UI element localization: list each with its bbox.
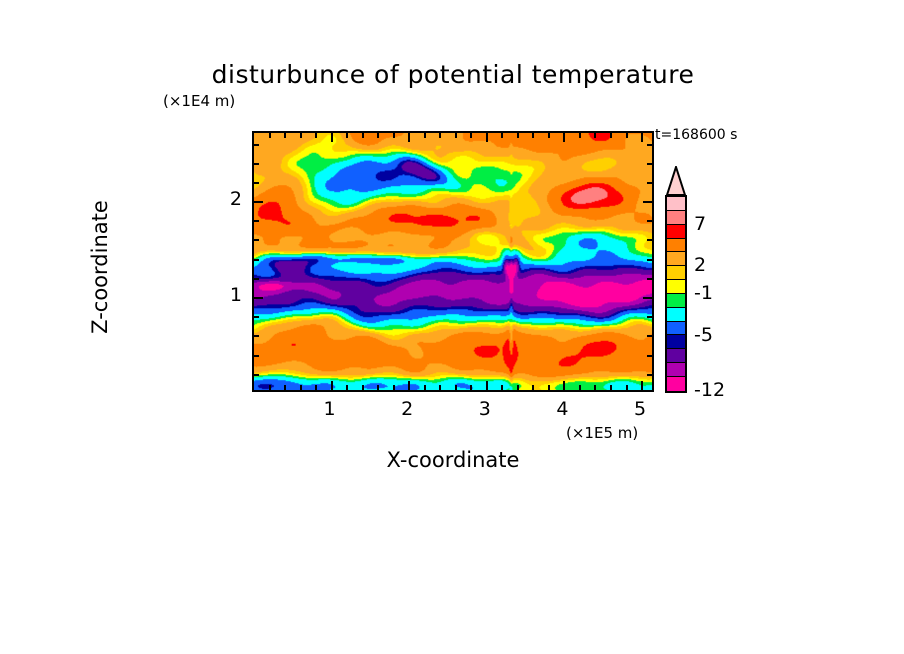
page-title: disturbunce of potential temperature bbox=[170, 60, 736, 89]
y-tick-left bbox=[254, 201, 263, 203]
colorbar-label: 2 bbox=[694, 254, 706, 276]
x-tick-top bbox=[532, 133, 534, 138]
x-tick-top bbox=[517, 133, 519, 138]
colorbar-label: 7 bbox=[694, 213, 706, 235]
colorbar-band bbox=[667, 266, 685, 280]
x-tick-bottom bbox=[470, 385, 472, 390]
x-tick-bottom bbox=[284, 385, 286, 390]
y-tick-right bbox=[647, 374, 652, 376]
x-tick-bottom bbox=[377, 385, 379, 390]
y-tick-right bbox=[647, 220, 652, 222]
y-tick-left bbox=[254, 163, 259, 165]
y-tick-right bbox=[643, 297, 652, 299]
colorbar bbox=[665, 195, 687, 393]
y-tick-right bbox=[647, 355, 652, 357]
x-tick-bottom bbox=[393, 385, 395, 390]
x-tick-bottom bbox=[610, 385, 612, 390]
x-axis-unit-label: (×1E5 m) bbox=[566, 424, 638, 442]
x-tick-bottom bbox=[331, 381, 333, 390]
contour-plot-area bbox=[252, 131, 654, 392]
x-tick-top bbox=[377, 133, 379, 138]
x-tick-bottom bbox=[346, 385, 348, 390]
x-tick-top bbox=[486, 133, 488, 142]
x-tick-bottom bbox=[563, 381, 565, 390]
x-tick-top bbox=[579, 133, 581, 138]
y-tick-right bbox=[647, 163, 652, 165]
x-tick-top bbox=[439, 133, 441, 138]
y-tick-label: 1 bbox=[214, 284, 242, 306]
x-tick-top bbox=[594, 133, 596, 138]
y-tick-left bbox=[254, 239, 259, 241]
x-tick-top bbox=[610, 133, 612, 138]
y-tick-right bbox=[647, 278, 652, 280]
y-tick-left bbox=[254, 297, 263, 299]
colorbar-band bbox=[667, 377, 685, 391]
x-tick-label: 2 bbox=[392, 398, 422, 420]
x-axis-title: X-coordinate bbox=[252, 448, 654, 472]
y-tick-right bbox=[647, 259, 652, 261]
x-tick-top bbox=[424, 133, 426, 138]
y-axis-unit-label: (×1E4 m) bbox=[163, 92, 235, 110]
x-tick-label: 1 bbox=[315, 398, 345, 420]
colorbar-band bbox=[667, 197, 685, 211]
x-tick-bottom bbox=[532, 385, 534, 390]
x-tick-bottom bbox=[548, 385, 550, 390]
colorbar-band bbox=[667, 308, 685, 322]
colorbar-label: -1 bbox=[694, 282, 713, 304]
colorbar-band bbox=[667, 225, 685, 239]
x-tick-bottom bbox=[501, 385, 503, 390]
x-tick-bottom bbox=[641, 381, 643, 390]
x-tick-top bbox=[455, 133, 457, 138]
y-tick-right bbox=[647, 239, 652, 241]
x-tick-top bbox=[393, 133, 395, 138]
x-tick-label: 5 bbox=[625, 398, 655, 420]
x-tick-top bbox=[331, 133, 333, 142]
y-tick-right bbox=[643, 201, 652, 203]
y-tick-label: 2 bbox=[214, 188, 242, 210]
colorbar-band bbox=[667, 252, 685, 266]
y-tick-left bbox=[254, 259, 259, 261]
colorbar-band bbox=[667, 322, 685, 336]
x-tick-top bbox=[501, 133, 503, 138]
x-tick-top bbox=[408, 133, 410, 142]
figure-container: disturbunce of potential temperature (×1… bbox=[0, 0, 904, 654]
y-tick-right bbox=[647, 316, 652, 318]
y-tick-right bbox=[647, 335, 652, 337]
x-tick-bottom bbox=[439, 385, 441, 390]
x-tick-bottom bbox=[408, 381, 410, 390]
x-tick-top bbox=[641, 133, 643, 142]
x-tick-bottom bbox=[594, 385, 596, 390]
x-tick-top bbox=[315, 133, 317, 138]
y-tick-left bbox=[254, 182, 259, 184]
y-tick-left bbox=[254, 374, 259, 376]
y-tick-left bbox=[254, 335, 259, 337]
x-tick-top bbox=[548, 133, 550, 138]
colorbar-band bbox=[667, 239, 685, 253]
x-tick-bottom bbox=[579, 385, 581, 390]
timestamp-label: t=168600 s bbox=[655, 127, 737, 143]
y-tick-left bbox=[254, 220, 259, 222]
x-tick-bottom bbox=[300, 385, 302, 390]
colorbar-label: -5 bbox=[694, 324, 713, 346]
x-tick-label: 4 bbox=[547, 398, 577, 420]
y-tick-left bbox=[254, 316, 259, 318]
colorbar-arrow-icon bbox=[665, 166, 687, 196]
x-tick-bottom bbox=[424, 385, 426, 390]
y-tick-right bbox=[647, 182, 652, 184]
y-tick-left bbox=[254, 144, 259, 146]
contour-field-canvas bbox=[254, 133, 652, 390]
x-tick-bottom bbox=[455, 385, 457, 390]
x-tick-top bbox=[300, 133, 302, 138]
y-axis-title: Z-coordinate bbox=[88, 132, 112, 402]
colorbar-band bbox=[667, 363, 685, 377]
x-tick-top bbox=[470, 133, 472, 138]
x-tick-label: 3 bbox=[470, 398, 500, 420]
colorbar-band bbox=[667, 211, 685, 225]
colorbar-band bbox=[667, 294, 685, 308]
y-tick-left bbox=[254, 355, 259, 357]
x-tick-bottom bbox=[315, 385, 317, 390]
colorbar-band bbox=[667, 280, 685, 294]
x-tick-top bbox=[362, 133, 364, 138]
colorbar-band bbox=[667, 349, 685, 363]
x-tick-bottom bbox=[269, 385, 271, 390]
x-tick-bottom bbox=[486, 381, 488, 390]
x-tick-bottom bbox=[517, 385, 519, 390]
y-tick-left bbox=[254, 278, 259, 280]
x-tick-top bbox=[563, 133, 565, 142]
x-tick-top bbox=[284, 133, 286, 138]
x-tick-top bbox=[626, 133, 628, 138]
colorbar-band bbox=[667, 335, 685, 349]
x-tick-top bbox=[346, 133, 348, 138]
x-tick-bottom bbox=[626, 385, 628, 390]
x-tick-bottom bbox=[362, 385, 364, 390]
y-tick-right bbox=[647, 144, 652, 146]
colorbar-label: -12 bbox=[694, 379, 725, 401]
x-tick-top bbox=[269, 133, 271, 138]
